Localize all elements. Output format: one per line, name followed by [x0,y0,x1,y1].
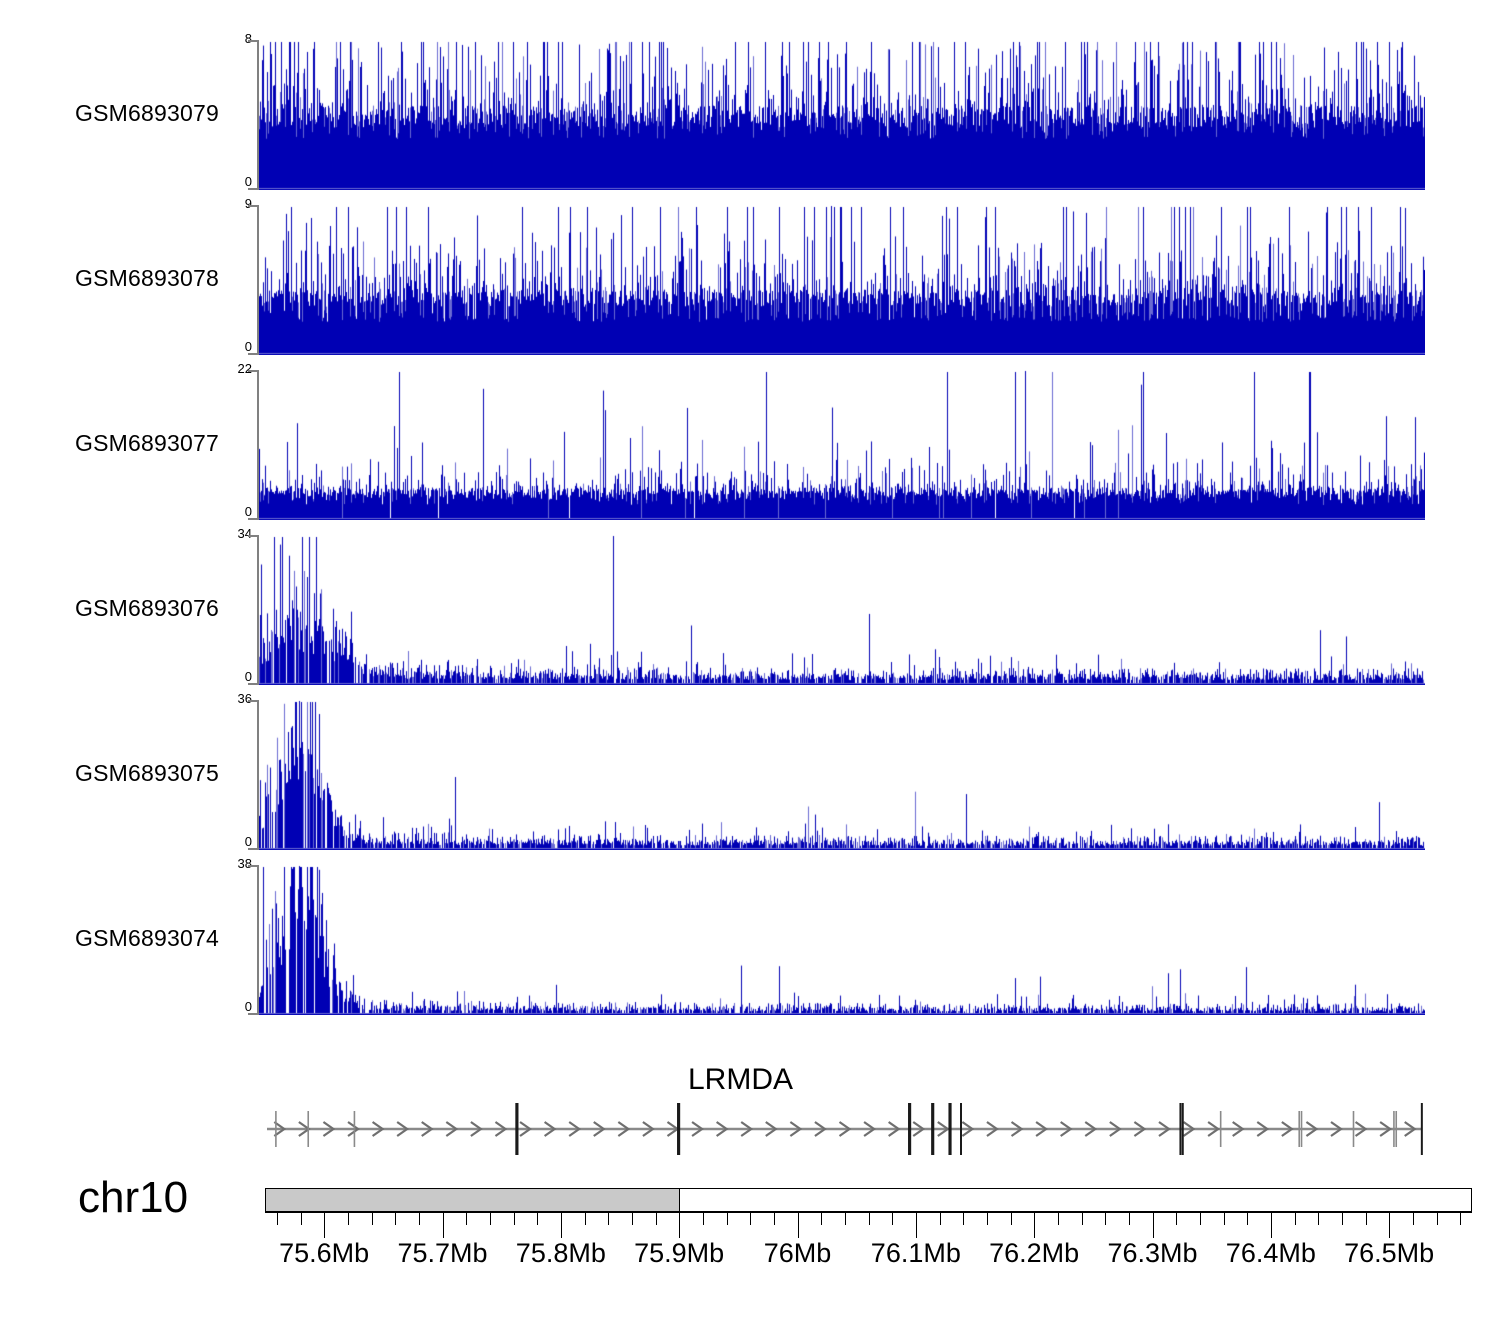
ruler-tick-major [679,1212,680,1238]
track-sample-label: GSM6893074 [75,925,235,952]
ruler-tick-minor [632,1212,633,1225]
ruler-tick-minor [490,1212,491,1225]
ruler-tick-minor [703,1212,704,1225]
track-sample-label: GSM6893078 [75,265,235,292]
exon-mark [1220,1111,1222,1147]
ruler-tick-minor [1011,1212,1012,1225]
exon-mark [950,1103,952,1155]
ruler-tick-minor [301,1212,302,1225]
ruler-tick-major [916,1212,917,1238]
exon-mark [932,1103,934,1155]
coverage-histogram[interactable] [259,370,1425,520]
ruler-tick-minor [514,1212,515,1225]
exon-mark [275,1111,277,1147]
ruler-tick-major [561,1212,562,1238]
axis-tick-min [248,1013,257,1015]
axis-max-label: 36 [222,691,252,706]
track-sample-label: GSM6893079 [75,100,235,127]
genome-axis-ruler: 75.6Mb75.7Mb75.8Mb75.9Mb76Mb76.1Mb76.2Mb… [265,1212,1473,1268]
ideogram-band [266,1189,680,1211]
chromosome-ideogram [265,1188,1472,1212]
gene-model-track[interactable] [0,1095,1500,1165]
ruler-tick-major [1153,1212,1154,1238]
ruler-tick-minor [277,1212,278,1225]
chromosome-label: chr10 [78,1176,188,1220]
ruler-tick-minor [1460,1212,1461,1225]
axis-max-label: 22 [222,361,252,376]
axis-tick-max [248,865,257,867]
ruler-tick-minor [1413,1212,1414,1225]
exon-mark [1179,1103,1181,1155]
axis-tick-max [248,700,257,702]
ruler-tick-minor [1437,1212,1438,1225]
ruler-tick-minor [774,1212,775,1225]
exon-mark [1353,1111,1355,1147]
ruler-tick-major [1271,1212,1272,1238]
genome-browser-view: GSM689307980GSM689307890GSM6893077220GSM… [0,0,1500,1320]
ruler-tick-label: 76.4Mb [1226,1238,1316,1269]
coverage-histogram[interactable] [259,205,1425,355]
ruler-tick-major [443,1212,444,1238]
ruler-tick-label: 75.9Mb [634,1238,724,1269]
ruler-tick-minor [1342,1212,1343,1225]
ruler-tick-minor [1105,1212,1106,1225]
ruler-tick-label: 76.1Mb [871,1238,961,1269]
exon-mark [960,1103,962,1155]
axis-tick-min [248,518,257,520]
ruler-tick-label: 76.5Mb [1344,1238,1434,1269]
coverage-track[interactable]: GSM689307890 [0,205,1500,355]
ruler-tick-minor [845,1212,846,1225]
ruler-tick-minor [727,1212,728,1225]
gene-name-label: LRMDA [688,1063,793,1097]
track-sample-label: GSM6893077 [75,430,235,457]
ruler-tick-label: 75.6Mb [279,1238,369,1269]
axis-max-label: 34 [222,526,252,541]
ruler-tick-minor [869,1212,870,1225]
ruler-tick-minor [1082,1212,1083,1225]
ruler-tick-minor [940,1212,941,1225]
ruler-tick-minor [656,1212,657,1225]
axis-min-label: 0 [222,339,252,354]
coverage-track[interactable]: GSM6893076340 [0,535,1500,685]
exon-mark [1395,1111,1397,1147]
coverage-histogram[interactable] [259,700,1425,850]
ruler-tick-minor [372,1212,373,1225]
coverage-track[interactable]: GSM6893075360 [0,700,1500,850]
ruler-tick-minor [537,1212,538,1225]
ruler-tick-minor [395,1212,396,1225]
ruler-tick-minor [466,1212,467,1225]
ruler-tick-label: 75.7Mb [397,1238,487,1269]
ruler-tick-minor [821,1212,822,1225]
exon-mark [1421,1103,1423,1155]
axis-max-label: 8 [222,31,252,46]
exon-mark [354,1111,356,1147]
axis-min-label: 0 [222,834,252,849]
exon-mark [1298,1111,1300,1147]
ruler-tick-label: 76.2Mb [989,1238,1079,1269]
exon-mark [678,1103,680,1155]
ruler-tick-label: 76Mb [764,1238,832,1269]
ruler-tick-minor [1176,1212,1177,1225]
coverage-histogram[interactable] [259,40,1425,190]
ruler-tick-minor [1058,1212,1059,1225]
ruler-tick-minor [1318,1212,1319,1225]
exon-mark [1182,1103,1184,1155]
exon-mark [909,1103,911,1155]
axis-tick-max [248,40,257,42]
coverage-track[interactable]: GSM689307980 [0,40,1500,190]
gene-model-svg [0,1095,1500,1165]
track-sample-label: GSM6893076 [75,595,235,622]
ruler-tick-major [1034,1212,1035,1238]
coverage-histogram[interactable] [259,535,1425,685]
ruler-tick-minor [1129,1212,1130,1225]
ruler-tick-minor [987,1212,988,1225]
ruler-tick-label: 75.8Mb [516,1238,606,1269]
axis-max-label: 38 [222,856,252,871]
ruler-tick-major [798,1212,799,1238]
coverage-track[interactable]: GSM6893074380 [0,865,1500,1015]
axis-tick-max [248,370,257,372]
axis-tick-max [248,535,257,537]
ruler-tick-minor [608,1212,609,1225]
ruler-tick-minor [1224,1212,1225,1225]
exon-mark [307,1111,309,1147]
axis-tick-min [248,848,257,850]
axis-tick-min [248,188,257,190]
axis-tick-max [248,205,257,207]
axis-min-label: 0 [222,669,252,684]
ruler-tick-minor [1295,1212,1296,1225]
track-sample-label: GSM6893075 [75,760,235,787]
ruler-tick-minor [1247,1212,1248,1225]
axis-max-label: 9 [222,196,252,211]
ruler-tick-minor [419,1212,420,1225]
exon-mark [516,1103,518,1155]
ruler-tick-minor [1366,1212,1367,1225]
axis-min-label: 0 [222,174,252,189]
ruler-baseline [265,1212,1472,1213]
exon-mark [1301,1111,1303,1147]
axis-tick-min [248,683,257,685]
ruler-tick-minor [963,1212,964,1225]
ruler-tick-major [324,1212,325,1238]
ruler-tick-minor [750,1212,751,1225]
ruler-tick-minor [892,1212,893,1225]
axis-min-label: 0 [222,999,252,1014]
axis-tick-min [248,353,257,355]
ruler-tick-minor [1200,1212,1201,1225]
exon-mark [1393,1111,1395,1147]
coverage-track[interactable]: GSM6893077220 [0,370,1500,520]
ruler-tick-minor [348,1212,349,1225]
coverage-histogram[interactable] [259,865,1425,1015]
axis-min-label: 0 [222,504,252,519]
ruler-tick-label: 76.3Mb [1107,1238,1197,1269]
ruler-tick-major [1389,1212,1390,1238]
ruler-tick-minor [585,1212,586,1225]
